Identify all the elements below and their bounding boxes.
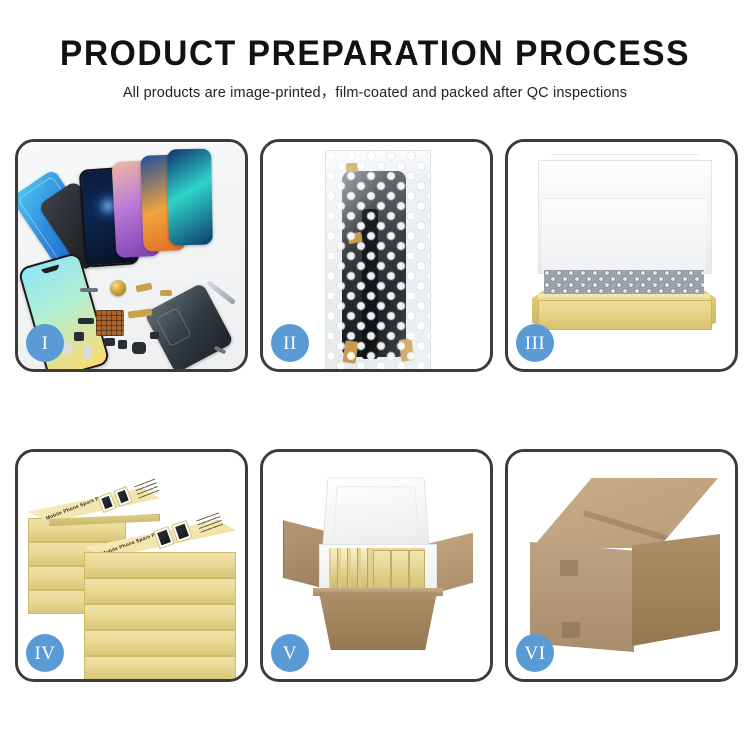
page-title: PRODUCT PREPARATION PROCESS [15,34,735,74]
step-badge-3: III [516,324,554,362]
small-part-bar [80,288,98,292]
product-preparation-infographic: PRODUCT PREPARATION PROCESS All products… [0,0,750,750]
small-part-camera [132,342,146,354]
stack-box-front-3 [84,604,236,630]
step-badge-6: VI [516,634,554,672]
small-part-sim-tray [64,342,71,354]
gold-speaker-part [110,280,126,296]
carton-tape-upper [560,560,578,576]
packed-box-slab-3 [409,550,425,590]
small-part-chip-2 [118,340,127,349]
step-badge-4: IV [26,634,64,672]
small-part-flex-2 [160,290,172,296]
styrofoam-lid [322,478,430,549]
step-panel-4: Mobile Phone Spare Parts Mobile Phone Sp… [15,449,248,682]
phone-screen-teal [167,149,213,246]
small-part-chip-1 [104,338,115,346]
copper-grid-chip [96,310,124,336]
carton-left-face [530,542,634,652]
step-panel-6: VI [505,449,738,682]
bubble-wrap-bag [325,150,431,369]
packed-box-slice-4 [361,548,368,590]
step-panel-3: III [505,139,738,372]
packed-box-slice-1 [331,548,338,590]
packed-box-slice-2 [341,548,348,590]
small-part-connector-2 [74,332,84,341]
plastic-sheen [326,151,430,369]
step-badge-2: II [271,324,309,362]
small-part-chip-3 [150,332,159,339]
carton-front-face [319,592,437,650]
stack-box-front-1 [84,552,236,578]
packed-yellow-boxes [329,548,425,590]
step-panel-1: I [15,139,248,372]
stack-box-front-5 [84,656,236,679]
packed-box-slab-1 [373,550,391,590]
step-badge-1: I [26,324,64,362]
small-part-tray [84,346,92,359]
page-subtitle: All products are image-printed，film-coat… [0,81,750,102]
packed-box-slab-2 [391,550,409,590]
step-panel-5: V [260,449,493,682]
yellow-box-front [538,300,712,330]
stack-box-front-4 [84,630,236,656]
white-foam-sheet [542,198,706,273]
step-badge-5: V [271,634,309,672]
stack-box-front-2 [84,578,236,604]
packed-box-slice-3 [351,548,358,590]
header: PRODUCT PREPARATION PROCESS All products… [0,34,750,102]
carton-tape-lower [562,622,580,638]
step-panel-2: II [260,139,493,372]
small-part-connector-1 [78,318,94,324]
process-steps-grid: I II [15,139,737,682]
carton-right-face [632,534,720,646]
